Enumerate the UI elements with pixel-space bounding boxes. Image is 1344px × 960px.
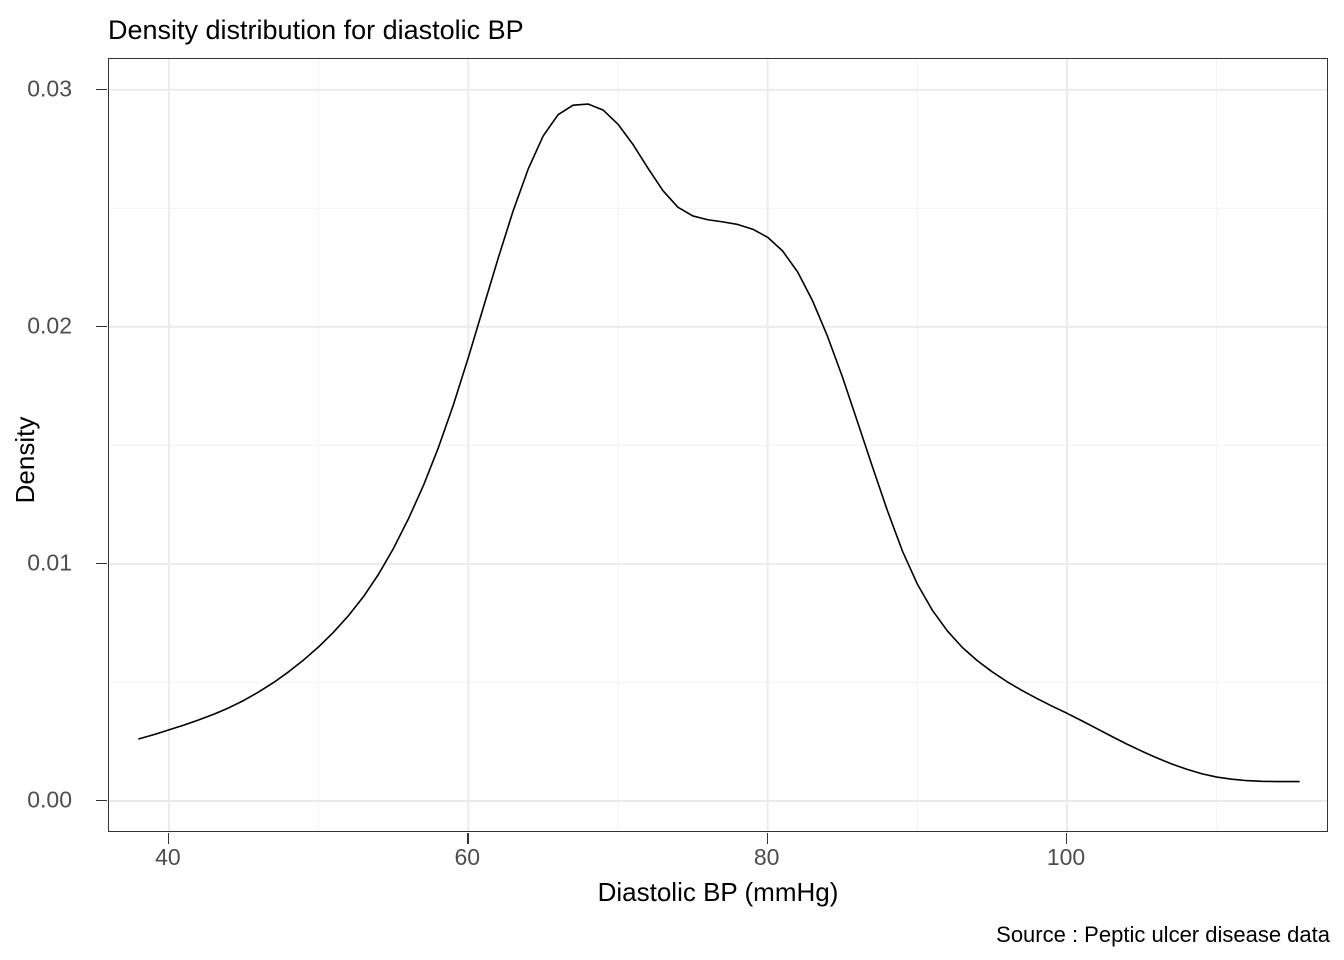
x-tick-mark <box>1066 833 1067 844</box>
x-tick-label: 60 <box>454 846 480 869</box>
chart-container: Density distribution for diastolic BP 0.… <box>0 0 1344 960</box>
density-curve <box>139 104 1299 782</box>
y-tick-mark <box>96 800 107 801</box>
plot-panel <box>108 58 1328 832</box>
x-tick-label: 40 <box>155 846 181 869</box>
x-tick-mark <box>467 833 468 844</box>
x-tick-mark <box>168 833 169 844</box>
chart-title: Density distribution for diastolic BP <box>108 14 524 46</box>
y-tick-label: 0.03 <box>27 77 72 100</box>
x-tick-mark <box>767 833 768 844</box>
y-tick-mark <box>96 89 107 90</box>
x-axis-title: Diastolic BP (mmHg) <box>108 877 1328 907</box>
y-tick-label: 0.00 <box>27 788 72 811</box>
density-curve-layer <box>109 59 1328 832</box>
x-tick-label: 80 <box>754 846 780 869</box>
chart-caption: Source : Peptic ulcer disease data <box>996 922 1330 948</box>
y-tick-mark <box>96 563 107 564</box>
y-axis-title: Density <box>10 260 40 660</box>
y-tick-mark <box>96 326 107 327</box>
x-tick-label: 100 <box>1047 846 1085 869</box>
